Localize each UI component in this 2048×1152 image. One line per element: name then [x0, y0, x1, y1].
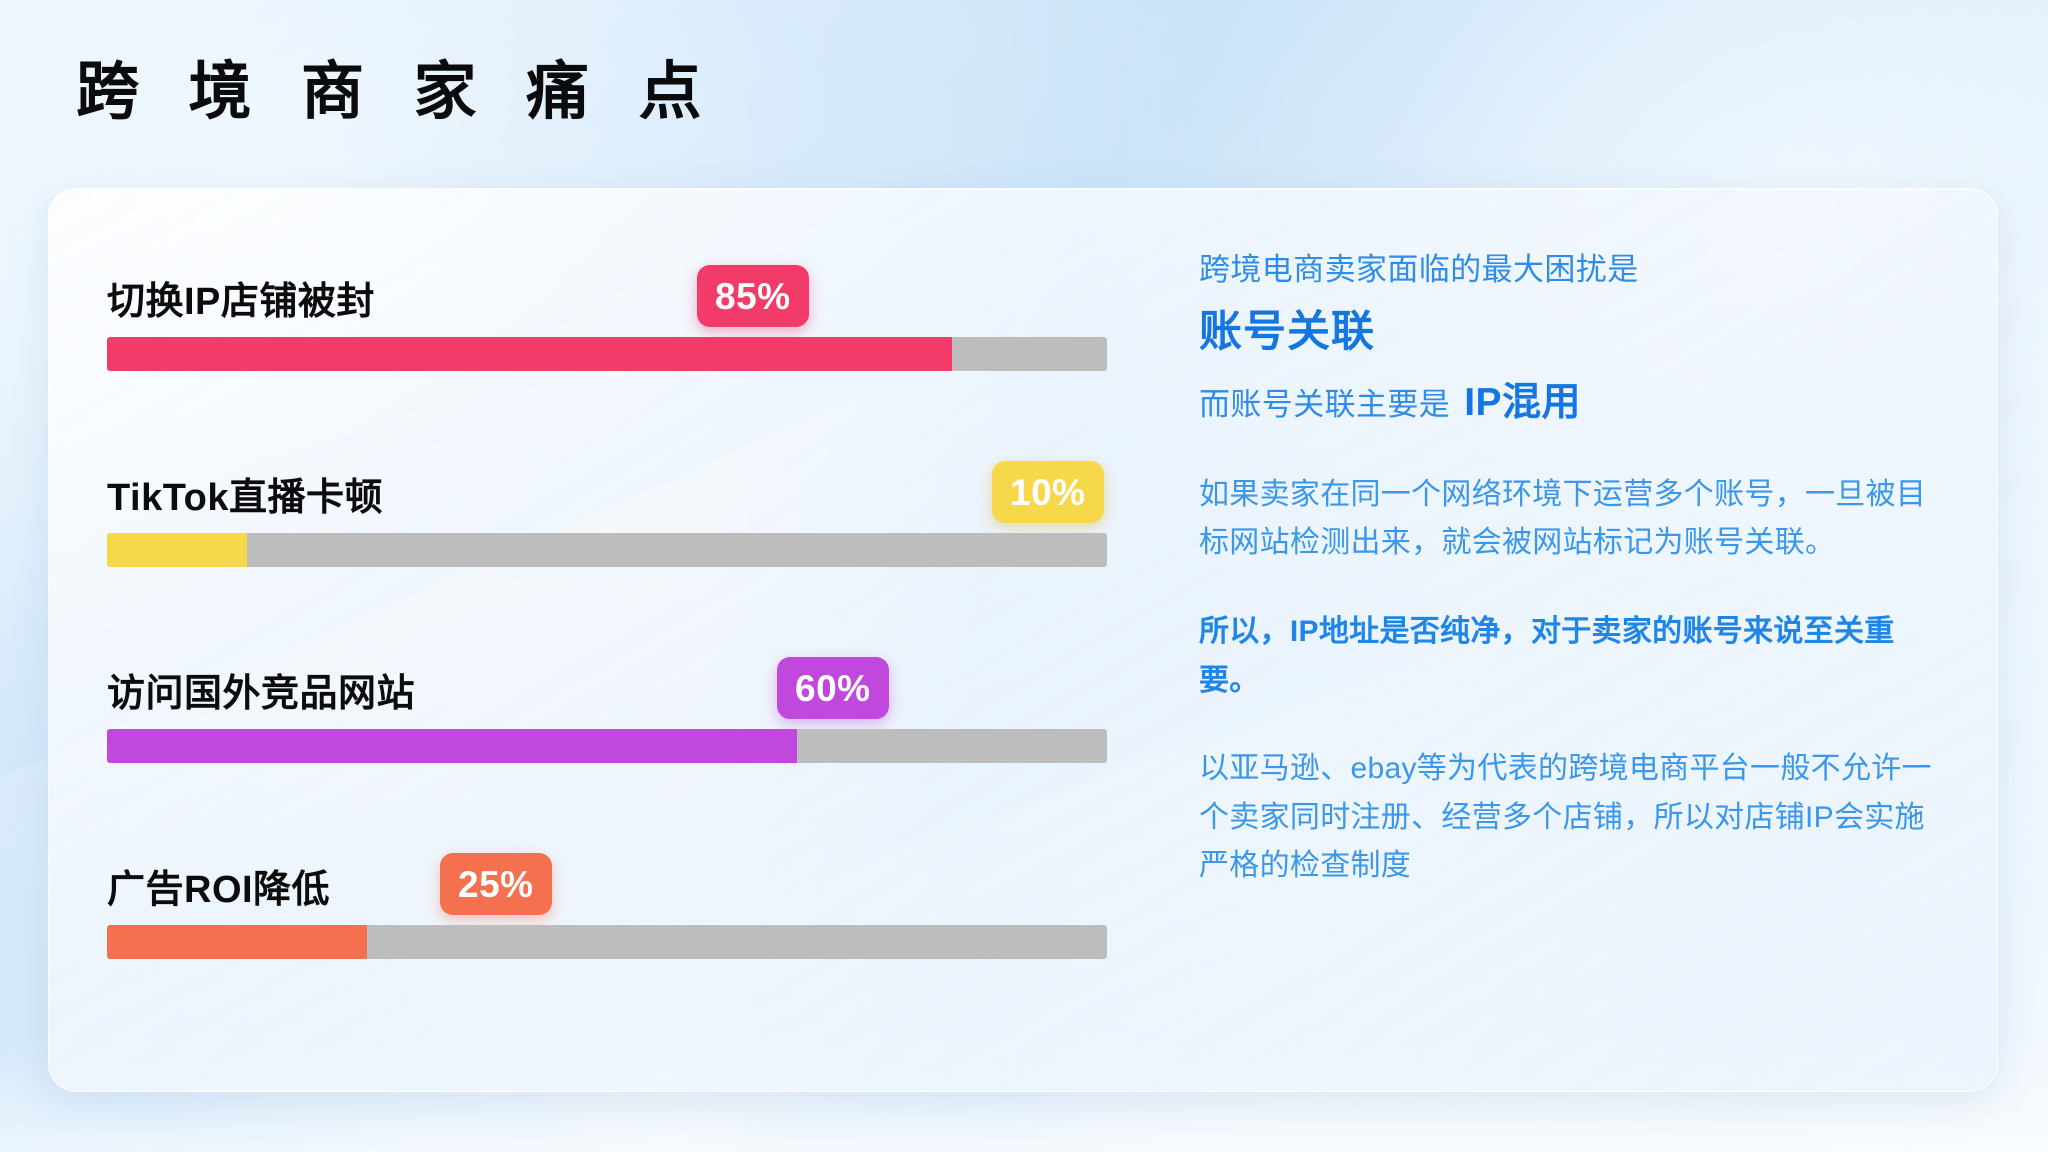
bar-value-badge: 60%	[777, 657, 889, 719]
bar-row: 广告ROI降低 25%	[107, 837, 1107, 959]
bar-row: 访问国外竞品网站 60%	[107, 641, 1107, 763]
bar-row: TikTok直播卡顿 10%	[107, 445, 1107, 567]
bar-fill	[107, 729, 797, 763]
bar-fill	[107, 925, 367, 959]
bar-track	[107, 729, 1107, 763]
bar-fill	[107, 337, 952, 371]
bar-label: 广告ROI降低	[107, 871, 330, 909]
bar-header: 广告ROI降低 25%	[107, 837, 1107, 911]
bar-header: TikTok直播卡顿 10%	[107, 445, 1107, 519]
lead-line: 跨境电商卖家面临的最大困扰是	[1199, 247, 1939, 293]
slide-background: 跨 境 商 家 痛 点 切换IP店铺被封 85% TikTok直播卡顿 10%	[0, 0, 2048, 1152]
bar-value-badge: 25%	[440, 853, 552, 915]
lead-secondary-line: 而账号关联主要是 IP混用	[1199, 376, 1939, 431]
content-card: 切换IP店铺被封 85% TikTok直播卡顿 10% 访问国外竞品网站	[48, 188, 1998, 1092]
bar-label: TikTok直播卡顿	[107, 479, 383, 517]
bar-label: 切换IP店铺被封	[107, 283, 375, 321]
page-title: 跨 境 商 家 痛 点	[76, 58, 718, 127]
bar-header: 切换IP店铺被封 85%	[107, 249, 1107, 323]
explanation-panel: 跨境电商卖家面临的最大困扰是 账号关联 而账号关联主要是 IP混用 如果卖家在同…	[1199, 247, 1939, 891]
bar-header: 访问国外竞品网站 60%	[107, 641, 1107, 715]
body-paragraph-3: 以亚马逊、ebay等为代表的跨境电商平台一般不允许一个卖家同时注册、经营多个店铺…	[1199, 745, 1939, 891]
bar-fill	[107, 533, 247, 567]
lead-secondary-prefix: 而账号关联主要是	[1199, 383, 1450, 426]
lead-secondary-highlight: IP混用	[1464, 376, 1581, 431]
lead-keyword: 账号关联	[1199, 303, 1939, 362]
bar-value-badge: 85%	[697, 265, 809, 327]
bar-track	[107, 337, 1107, 371]
bar-track	[107, 925, 1107, 959]
body-paragraph-1: 如果卖家在同一个网络环境下运营多个账号，一旦被目标网站检测出来，就会被网站标记为…	[1199, 471, 1939, 568]
bar-row: 切换IP店铺被封 85%	[107, 249, 1107, 371]
bar-value-badge: 10%	[992, 461, 1104, 523]
bar-track	[107, 533, 1107, 567]
body-paragraph-2: 所以，IP地址是否纯净，对于卖家的账号来说至关重要。	[1199, 608, 1939, 705]
bar-label: 访问国外竞品网站	[107, 675, 415, 713]
pain-point-bar-chart: 切换IP店铺被封 85% TikTok直播卡顿 10% 访问国外竞品网站	[107, 249, 1167, 1039]
